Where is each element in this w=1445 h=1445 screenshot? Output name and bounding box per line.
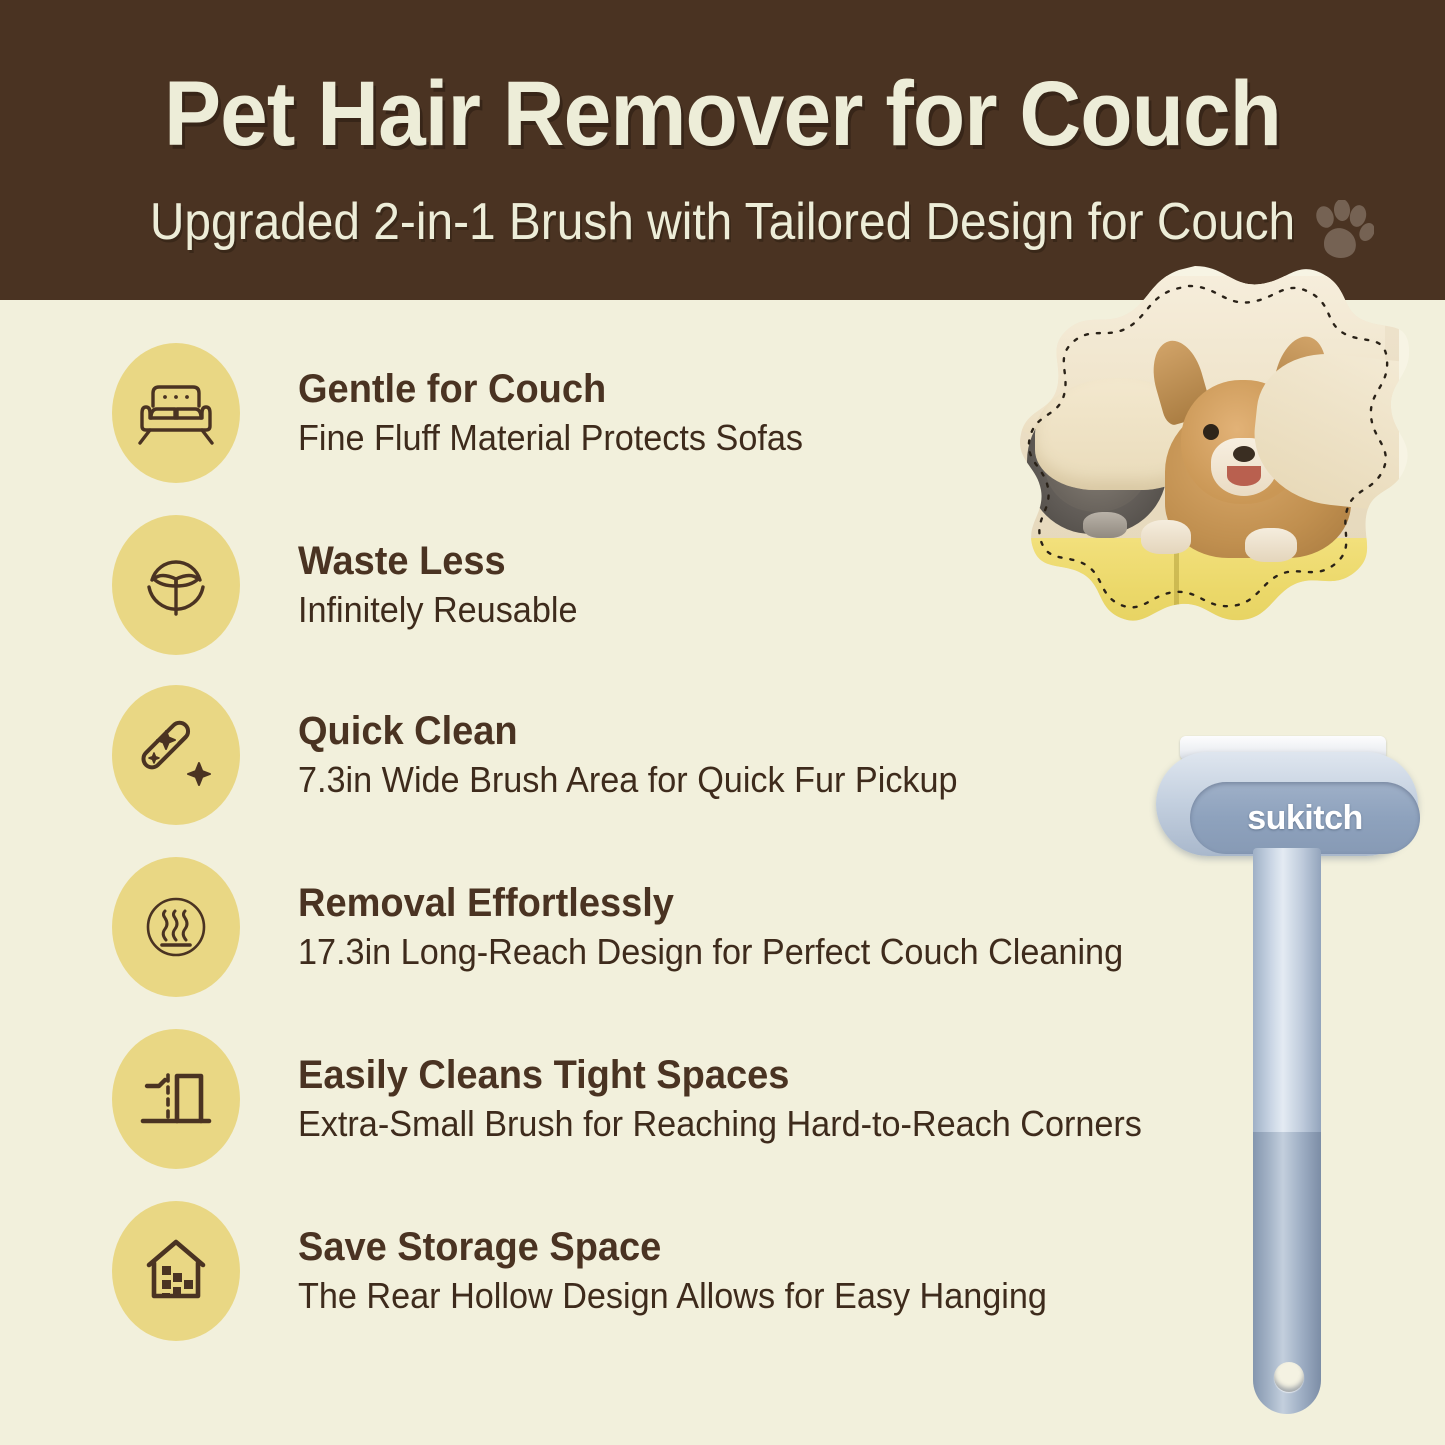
scalloped-frame (975, 262, 1415, 672)
feature-heading: Removal Effortlessly (298, 881, 1248, 926)
feature-icon-badge (112, 343, 240, 483)
magic-wand-sparkles-icon (139, 718, 213, 792)
pet-photo (975, 262, 1415, 672)
feature-item-gentle-for-couch: Gentle for Couch Fine Fluff Material Pro… (0, 328, 900, 498)
feature-icon-badge (112, 1201, 240, 1341)
feature-subtext: 7.3in Wide Brush Area for Quick Fur Pick… (298, 758, 1248, 801)
feature-heading: Easily Cleans Tight Spaces (298, 1053, 1248, 1098)
sofa-icon (138, 378, 214, 448)
hanging-hole (1274, 1362, 1304, 1392)
brand-logo: sukitch (1190, 782, 1420, 854)
feature-icon-badge (112, 685, 240, 825)
feature-heading: Save Storage Space (298, 1225, 1248, 1270)
feature-icon-badge (112, 857, 240, 997)
feature-heading: Quick Clean (298, 709, 1248, 754)
feature-item-save-storage-space: Save Storage Space The Rear Hollow Desig… (0, 1186, 900, 1356)
header-banner: Pet Hair Remover for Couch Upgraded 2-in… (0, 0, 1445, 300)
photo-yellow-sofa (991, 538, 1387, 658)
brush-head: sukitch (1156, 752, 1418, 856)
feature-item-quick-clean: Quick Clean 7.3in Wide Brush Area for Qu… (0, 670, 900, 840)
page-subtitle: Upgraded 2-in-1 Brush with Tailored Desi… (58, 196, 1387, 248)
product-image-brush: sukitch (1138, 736, 1438, 1426)
brush-handle-upper (1253, 848, 1321, 1136)
feature-icon-badge (112, 515, 240, 655)
feature-icon-badge (112, 1029, 240, 1169)
paw-print-icon (1312, 200, 1374, 260)
feature-item-tight-spaces: Easily Cleans Tight Spaces Extra-Small B… (0, 1014, 900, 1184)
feature-subtext: 17.3in Long-Reach Design for Perfect Cou… (298, 930, 1248, 973)
steam-lines-icon (139, 890, 213, 964)
photo-dog (1159, 346, 1355, 556)
brush-head-panel: sukitch (1190, 782, 1420, 854)
feature-subtext: The Rear Hollow Design Allows for Easy H… (298, 1274, 1248, 1317)
infographic-page: Pet Hair Remover for Couch Upgraded 2-in… (0, 0, 1445, 1445)
feature-list: Gentle for Couch Fine Fluff Material Pro… (0, 300, 900, 1445)
sprout-leaf-icon (139, 548, 213, 622)
house-storage-icon (139, 1236, 213, 1306)
page-title: Pet Hair Remover for Couch (51, 68, 1395, 160)
feature-subtext: Extra-Small Brush for Reaching Hard-to-R… (298, 1102, 1248, 1145)
feature-item-waste-less: Waste Less Infinitely Reusable (0, 500, 900, 670)
feature-item-removal-effortlessly: Removal Effortlessly 17.3in Long-Reach D… (0, 842, 900, 1012)
tight-gap-icon (139, 1063, 213, 1135)
